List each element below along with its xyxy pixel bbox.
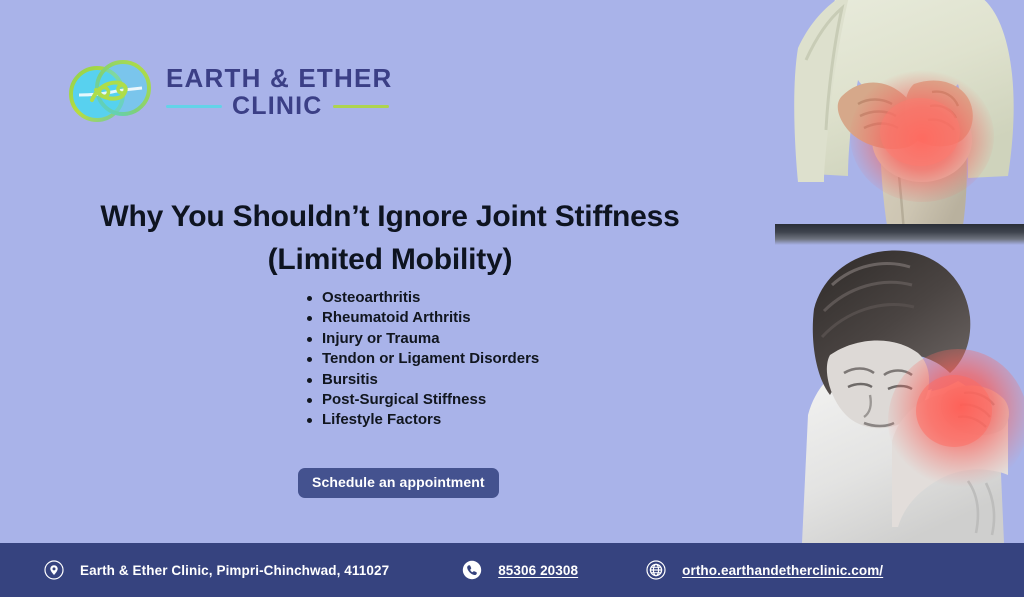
list-item: Tendon or Ligament Disorders bbox=[322, 349, 539, 369]
overlapping-circles-logo-icon bbox=[66, 54, 154, 130]
causes-list: Osteoarthritis Rheumatoid Arthritis Inju… bbox=[300, 288, 539, 431]
phone-icon bbox=[462, 560, 482, 580]
clinic-logo[interactable]: EARTH & ETHER CLINIC bbox=[66, 54, 393, 130]
knee-pain-photo bbox=[772, 0, 1024, 232]
logo-subtitle: CLINIC bbox=[232, 94, 323, 119]
logo-wordmark: EARTH & ETHER CLINIC bbox=[166, 65, 393, 119]
image-divider-band bbox=[775, 224, 1024, 245]
list-item: Rheumatoid Arthritis bbox=[322, 308, 539, 328]
list-item: Osteoarthritis bbox=[322, 288, 539, 308]
logo-title: EARTH & ETHER bbox=[166, 65, 393, 92]
page-title: Why You Shouldn’t Ignore Joint Stiffness… bbox=[40, 196, 740, 281]
neck-shoulder-pain-photo bbox=[772, 245, 1024, 543]
footer-bar: Earth & Ether Clinic, Pimpri-Chinchwad, … bbox=[0, 543, 1024, 597]
logo-subtitle-row: CLINIC bbox=[166, 94, 393, 119]
footer-phone[interactable]: 85306 20308 bbox=[462, 560, 578, 580]
list-item: Bursitis bbox=[322, 370, 539, 390]
location-pin-icon bbox=[44, 560, 64, 580]
globe-icon bbox=[646, 560, 666, 580]
footer-website-text[interactable]: ortho.earthandetherclinic.com/ bbox=[682, 563, 883, 578]
footer-address: Earth & Ether Clinic, Pimpri-Chinchwad, … bbox=[44, 560, 389, 580]
headline-line-1: Why You Shouldn’t Ignore Joint Stiffness bbox=[100, 200, 679, 233]
footer-phone-text[interactable]: 85306 20308 bbox=[498, 563, 578, 578]
footer-address-text: Earth & Ether Clinic, Pimpri-Chinchwad, … bbox=[80, 563, 389, 578]
list-item: Lifestyle Factors bbox=[322, 410, 539, 430]
list-item: Post-Surgical Stiffness bbox=[322, 390, 539, 410]
schedule-appointment-button[interactable]: Schedule an appointment bbox=[298, 468, 499, 498]
list-item: Injury or Trauma bbox=[322, 329, 539, 349]
logo-rule-left bbox=[166, 105, 222, 108]
headline-line-2: (Limited Mobility) bbox=[268, 243, 513, 276]
logo-rule-right bbox=[333, 105, 389, 108]
footer-website[interactable]: ortho.earthandetherclinic.com/ bbox=[646, 560, 883, 580]
promotional-banner: EARTH & ETHER CLINIC Why You Shouldn’t I… bbox=[0, 0, 1024, 597]
